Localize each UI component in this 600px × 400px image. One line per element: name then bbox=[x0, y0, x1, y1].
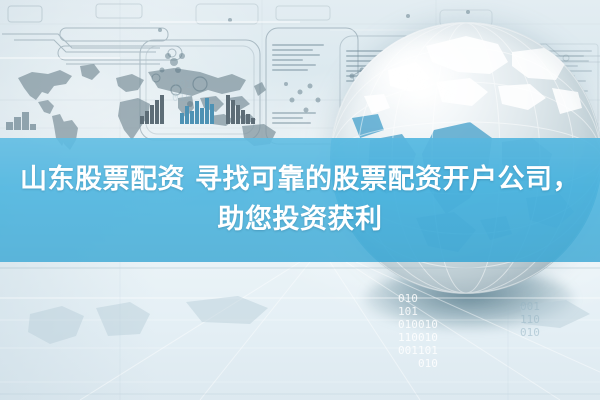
binary-column-2: 010 010 101 010 bbox=[418, 318, 438, 370]
perspective-floor bbox=[0, 262, 600, 400]
bar-chart-stacked-blocks bbox=[6, 108, 36, 130]
bar-chart-ascending bbox=[140, 94, 168, 124]
panel-text-lines-c bbox=[272, 112, 316, 127]
binary-column-3: 001 110 010 bbox=[520, 300, 540, 339]
binary-column-1: 010 101 010 110 001 bbox=[398, 292, 418, 357]
binary-column-4: 101 010 bbox=[172, 78, 192, 104]
bar-chart-descending bbox=[226, 94, 256, 124]
panel-text-lines-a bbox=[272, 44, 324, 74]
banner-image: 010 101 010 110 001 010 010 101 010 001 … bbox=[0, 0, 600, 400]
headline-text: 山东股票配资 寻找可靠的股票配资开户公司，助您投资获利 bbox=[20, 160, 580, 240]
